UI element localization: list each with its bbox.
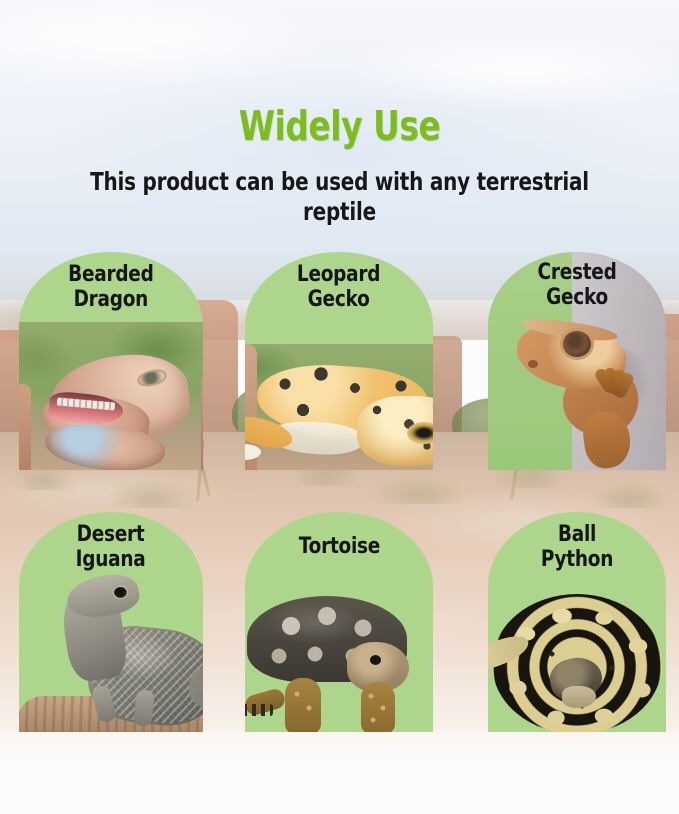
widely-use-infographic: Widely Use This product can be used with… [0, 0, 679, 814]
iguana-eye [113, 586, 128, 599]
tortoise-eye [369, 654, 382, 666]
ball-python-photo [488, 594, 666, 732]
reptile-card-tortoise: Tortoise [245, 512, 433, 732]
gecko-spots [259, 362, 433, 470]
desert-iguana-photo [33, 576, 203, 732]
desert-scrub-icon [104, 478, 200, 508]
crested-gecko-foot [592, 370, 640, 414]
iguana-leg [133, 689, 155, 727]
desert-scrub-icon [366, 474, 470, 504]
tortoise-front-leg [361, 682, 395, 732]
card-label: Leopard Gecko [245, 262, 433, 312]
rock-right-icon [201, 372, 203, 470]
card-label: Crested Gecko [488, 260, 666, 310]
tortoise-photo [245, 596, 433, 730]
page-subtitle: This product can be used with any terres… [68, 167, 611, 227]
tortoise-nails [245, 704, 273, 716]
tortoise-hind-leg [285, 678, 321, 732]
bearded-dragon-photo [19, 322, 203, 470]
background-bottom-fade [0, 730, 679, 814]
page-title: Widely Use [68, 104, 611, 148]
leopard-gecko-photo [245, 344, 433, 470]
crested-gecko-nostril [528, 360, 538, 368]
card-label: Desert Iguana [19, 522, 203, 572]
desert-scrub-icon [588, 480, 672, 508]
reptile-card-crested-gecko: Crested Gecko [488, 252, 666, 470]
rock-left-icon [19, 384, 31, 470]
card-label: Ball Python [488, 522, 666, 572]
reptile-card-leopard-gecko: Leopard Gecko [245, 252, 433, 470]
reptile-card-ball-python: Ball Python [488, 512, 666, 732]
gecko-eye [407, 422, 433, 444]
reptile-card-bearded-dragon: Bearded Dragon [19, 252, 203, 470]
crested-gecko-eye [560, 328, 594, 360]
card-label: Bearded Dragon [19, 262, 203, 312]
reptile-card-desert-iguana: Desert Iguana [19, 512, 203, 732]
iguana-legs [93, 686, 189, 726]
iguana-leg [91, 684, 117, 723]
card-label: Tortoise [245, 534, 433, 559]
